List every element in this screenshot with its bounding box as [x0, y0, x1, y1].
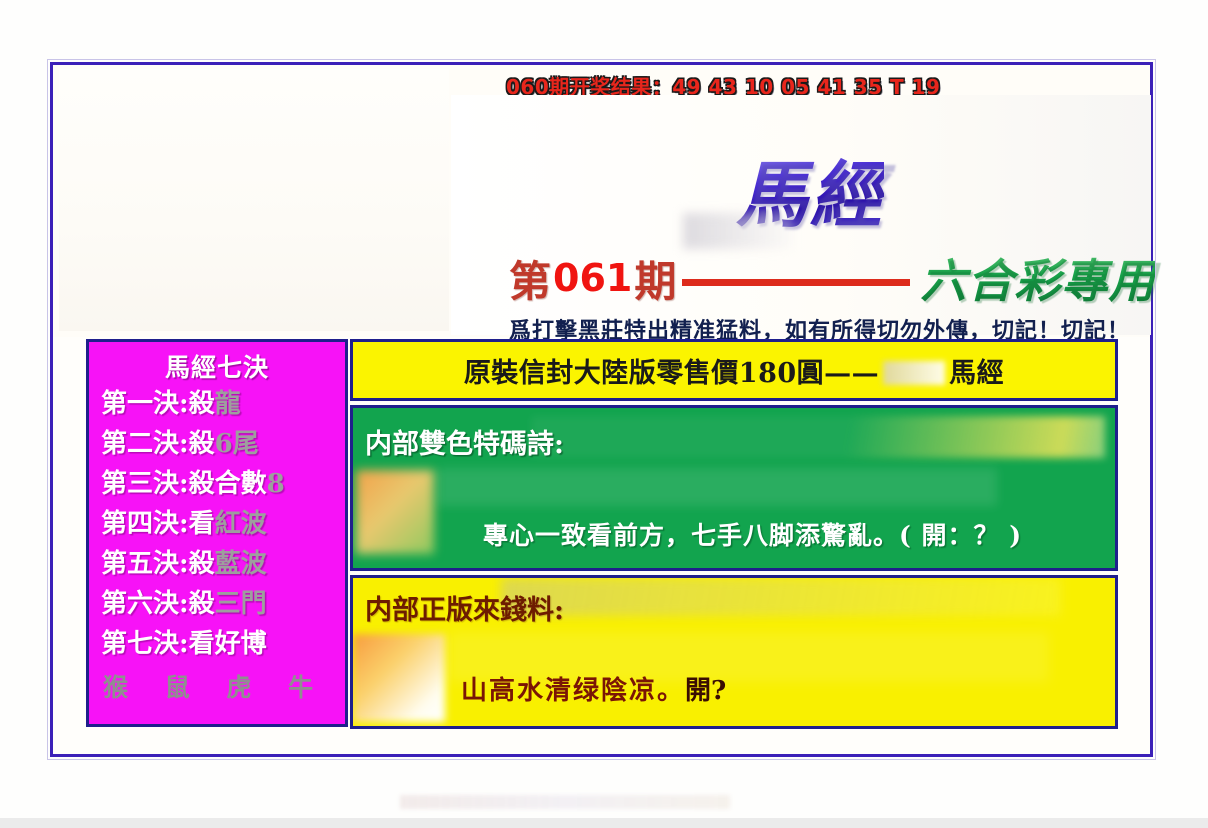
seven-decisions-title: 馬經七決	[89, 348, 345, 384]
body-area: 馬經七決 第一決:殺龍 第二決:殺6尾 第三決:殺合數8 第四決:看紅波 第五決…	[53, 337, 1150, 754]
issue-suffix: 期	[634, 248, 676, 309]
special-title: 六合彩專用	[920, 245, 1155, 311]
page-root: 060期开奖结果：49 43 10 05 41 35 T 19 馬經 第 061…	[0, 0, 1208, 828]
green-blur-top-artifact	[531, 416, 1105, 458]
issue-number: 061	[551, 256, 634, 300]
price-banner-text: 原裝信封大陸版零售價180圓——馬經	[464, 351, 1004, 390]
masthead: 馬經 第 061 期 六合彩專用 爲打擊黑莊特出精准猛料，如有所得切勿外傳，切記…	[451, 95, 1151, 335]
yellow-poem-main: 山高水清绿陰凉。	[461, 676, 685, 706]
price-text-after: 馬經	[949, 358, 1004, 389]
decision-row-5: 第五決:殺藍波	[89, 544, 345, 584]
outer-frame: 060期开奖结果：49 43 10 05 41 35 T 19 馬經 第 061…	[50, 62, 1153, 757]
decision-row-1: 第一決:殺龍	[89, 384, 345, 424]
issue-prefix: 第	[509, 248, 551, 309]
bottom-grey-strip	[0, 818, 1208, 828]
decision-label-2: 第二決:殺	[101, 429, 215, 459]
price-blur-artifact	[883, 361, 945, 385]
zodiac-row: 猴 鼠 虎 牛 兔	[89, 668, 345, 704]
decision-highlight-4: 紅波	[215, 509, 267, 539]
decision-highlight-6: 三門	[215, 589, 267, 619]
decision-label-1: 第一決:殺	[101, 389, 215, 419]
price-banner: 原裝信封大陸版零售價180圓——馬經	[350, 339, 1118, 401]
header-blank-block	[59, 69, 449, 331]
decision-label-4: 第四決:看	[101, 509, 215, 539]
bottom-faint-artifact	[400, 795, 730, 809]
decision-label-5: 第五決:殺	[101, 549, 215, 579]
green-blur-mid-artifact	[437, 468, 997, 506]
decision-row-4: 第四決:看紅波	[89, 504, 345, 544]
right-panel-stack: 原裝信封大陸版零售價180圓——馬經 内部雙色特碼詩: 專心一致看前方，七手八脚…	[350, 339, 1118, 729]
yellow-forecast-panel: 内部正版來錢料: 山高水清绿陰凉。開?	[350, 575, 1118, 729]
decision-row-7: 第七決:看好博	[89, 624, 345, 664]
header-area: 060期开奖结果：49 43 10 05 41 35 T 19 馬經 第 061…	[53, 65, 1150, 337]
decision-row-3: 第三決:殺合數8	[89, 464, 345, 504]
green-panel-label: 内部雙色特碼詩:	[365, 422, 564, 461]
price-text-before: 原裝信封大陸版零售價180圓——	[464, 358, 879, 389]
yellow-blur-top-artifact	[501, 578, 1061, 616]
decision-highlight-1: 龍	[215, 389, 241, 419]
yellow-panel-label: 内部正版來錢料:	[365, 588, 564, 627]
decision-highlight-5: 藍波	[215, 549, 267, 579]
issue-row: 第 061 期 六合彩專用	[509, 247, 1149, 309]
yellow-poem-kai: 開?	[685, 676, 726, 706]
decision-row-6: 第六決:殺三門	[89, 584, 345, 624]
yellow-panel-poem: 山高水清绿陰凉。開?	[461, 670, 1101, 707]
decision-label-7: 第七決:看好博	[101, 629, 267, 659]
decision-highlight-3: 8	[267, 469, 285, 499]
issue-divider-rule	[682, 279, 910, 286]
decision-label-3: 第三決:殺合數	[101, 469, 267, 499]
decision-label-6: 第六決:殺	[101, 589, 215, 619]
decision-highlight-2: 6尾	[215, 429, 259, 459]
decision-row-2: 第二決:殺6尾	[89, 424, 345, 464]
yellow-blur-left-artifact	[353, 634, 445, 722]
seven-decisions-panel: 馬經七決 第一決:殺龍 第二決:殺6尾 第三決:殺合數8 第四決:看紅波 第五決…	[86, 339, 348, 727]
green-panel-poem: 專心一致看前方，七手八脚添驚亂。( 開：？ )	[483, 516, 1113, 552]
logo-blur-artifact	[683, 213, 793, 249]
green-forecast-panel: 内部雙色特碼詩: 專心一致看前方，七手八脚添驚亂。( 開：？ )	[350, 405, 1118, 571]
green-blur-left-artifact	[356, 470, 434, 554]
